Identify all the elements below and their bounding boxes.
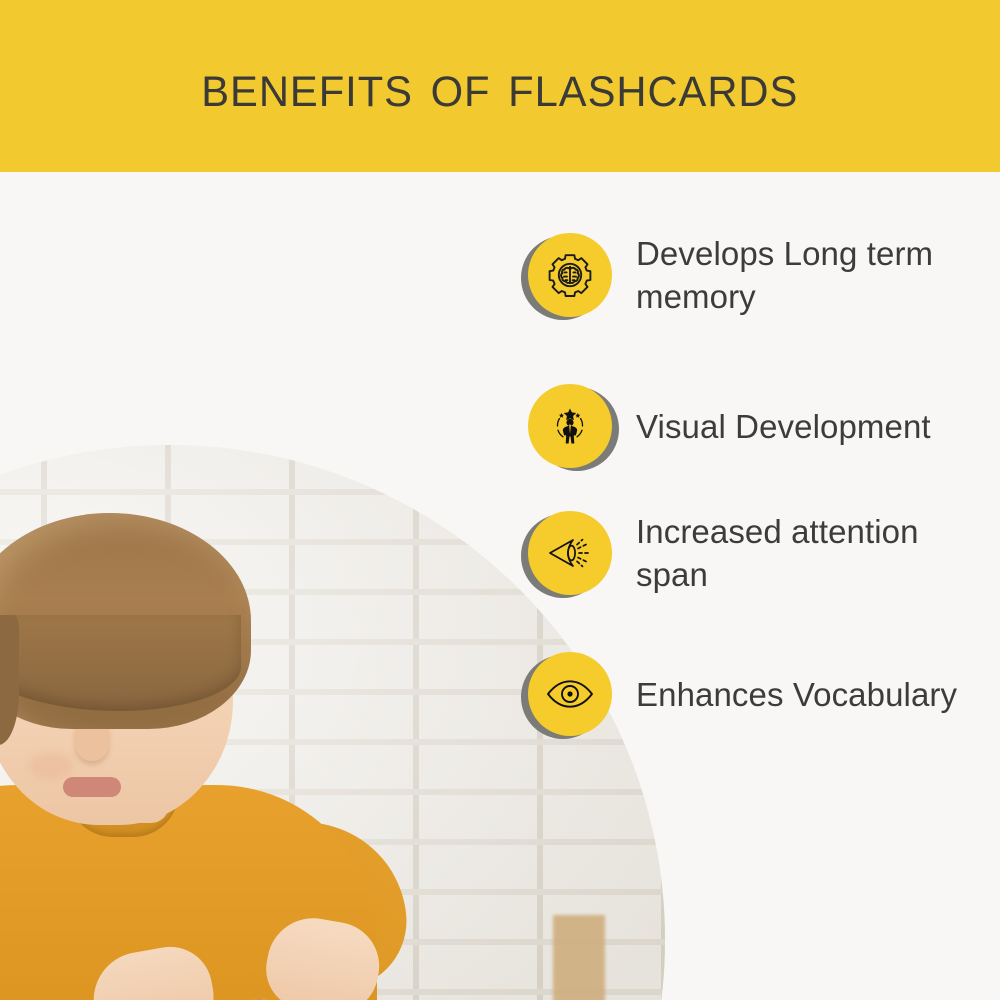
gear-brain-icon bbox=[546, 251, 594, 299]
benefit-badge bbox=[528, 233, 612, 317]
boy-mouth bbox=[63, 777, 121, 797]
eye-icon bbox=[544, 676, 596, 712]
badge-face bbox=[528, 384, 612, 468]
header-banner: Benefits of flashcards bbox=[0, 0, 1000, 172]
boy-cheek bbox=[29, 753, 73, 779]
benefit-item-long-term-memory[interactable]: Develops Long term memory bbox=[528, 232, 1000, 318]
chair-back bbox=[553, 915, 605, 1000]
boy-nose bbox=[75, 727, 109, 761]
badge-face bbox=[528, 652, 612, 736]
infographic-poster: Benefits of flashcards bbox=[0, 0, 1000, 1000]
boy-hair-fringe bbox=[0, 615, 241, 711]
benefit-item-visual-development[interactable]: Visual Development bbox=[528, 384, 1000, 468]
benefit-item-vocabulary[interactable]: Enhances Vocabulary bbox=[528, 652, 1000, 736]
benefit-label: Enhances Vocabulary bbox=[636, 673, 957, 716]
benefit-badge bbox=[528, 511, 612, 595]
benefit-label: Visual Development bbox=[636, 405, 931, 448]
badge-face bbox=[528, 511, 612, 595]
page-title: Benefits of flashcards bbox=[201, 55, 798, 117]
benefit-label: Develops Long term memory bbox=[636, 232, 986, 318]
benefit-label: Increased attention span bbox=[636, 510, 986, 596]
eye-rays-icon bbox=[544, 530, 596, 576]
badge-face bbox=[528, 233, 612, 317]
benefit-badge bbox=[528, 384, 612, 468]
benefit-badge bbox=[528, 652, 612, 736]
person-star-icon bbox=[545, 401, 595, 451]
boy-figure bbox=[0, 495, 395, 1000]
benefit-item-attention-span[interactable]: Increased attention span bbox=[528, 510, 1000, 596]
